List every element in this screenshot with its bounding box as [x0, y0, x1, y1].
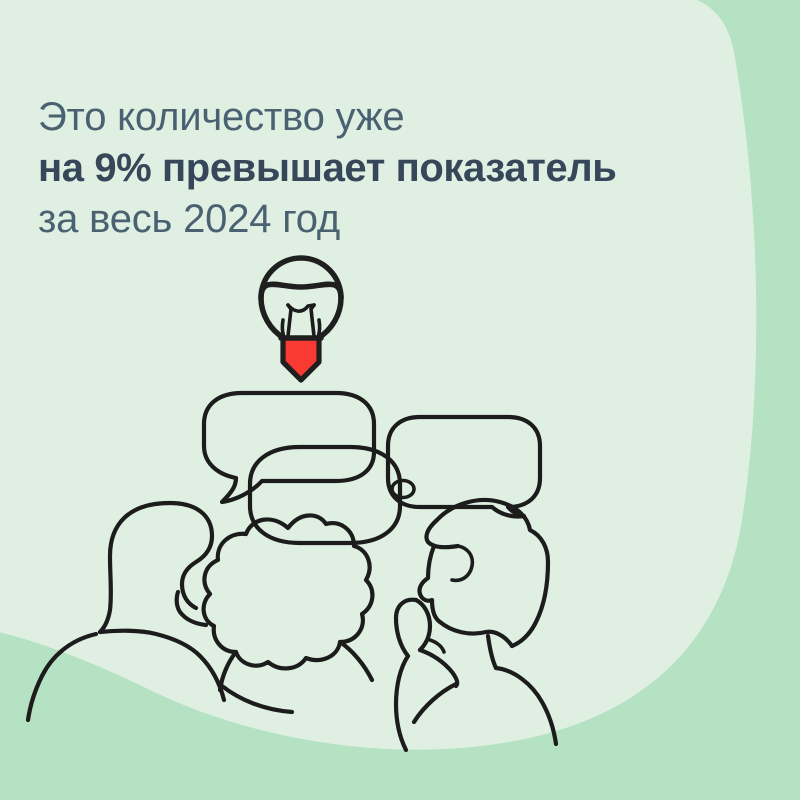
person-left-neck — [100, 631, 200, 656]
person-center-neck-right — [340, 642, 372, 680]
lightbulb-dome — [261, 258, 341, 298]
person-right-jaw — [440, 622, 512, 646]
headline-line-1: Это количество уже — [38, 92, 738, 143]
thought-dot — [392, 481, 414, 498]
lightbulb-icon — [261, 258, 341, 380]
person-right-forearm — [396, 656, 408, 750]
person-right-hairline — [426, 520, 458, 547]
person-right-hand-palm — [420, 650, 457, 686]
person-right-head-top — [437, 500, 548, 646]
page-title: Это количество уже на 9% превышает показ… — [38, 92, 738, 245]
person-right-neck — [488, 636, 496, 668]
person-right-shoulder-right — [496, 668, 556, 744]
person-center-shoulder — [222, 686, 292, 712]
headline-line-2: на 9% превышает показатель — [38, 143, 738, 194]
person-right-knuckle — [430, 640, 444, 652]
lightbulb-neck-left — [282, 320, 284, 338]
infographic-card: Это количество уже на 9% превышает показ… — [0, 0, 800, 800]
speech-bubble-center — [250, 447, 400, 543]
person-right — [396, 500, 556, 750]
lightbulb-base-fill — [283, 340, 319, 380]
person-right-ear — [452, 546, 472, 580]
person-left — [28, 503, 224, 720]
lightbulb-filament-right — [311, 305, 314, 336]
person-left-shoulder-left — [28, 634, 96, 720]
lightbulb-neck-right — [318, 320, 320, 338]
headline-line-3: за весь 2024 год — [38, 194, 738, 245]
person-left-head-back — [100, 503, 170, 632]
person-right-shoulder-left — [414, 684, 456, 722]
person-right-hand-thumb — [396, 600, 416, 656]
person-right-hand-index — [416, 600, 430, 650]
person-right-face-profile — [419, 546, 440, 622]
